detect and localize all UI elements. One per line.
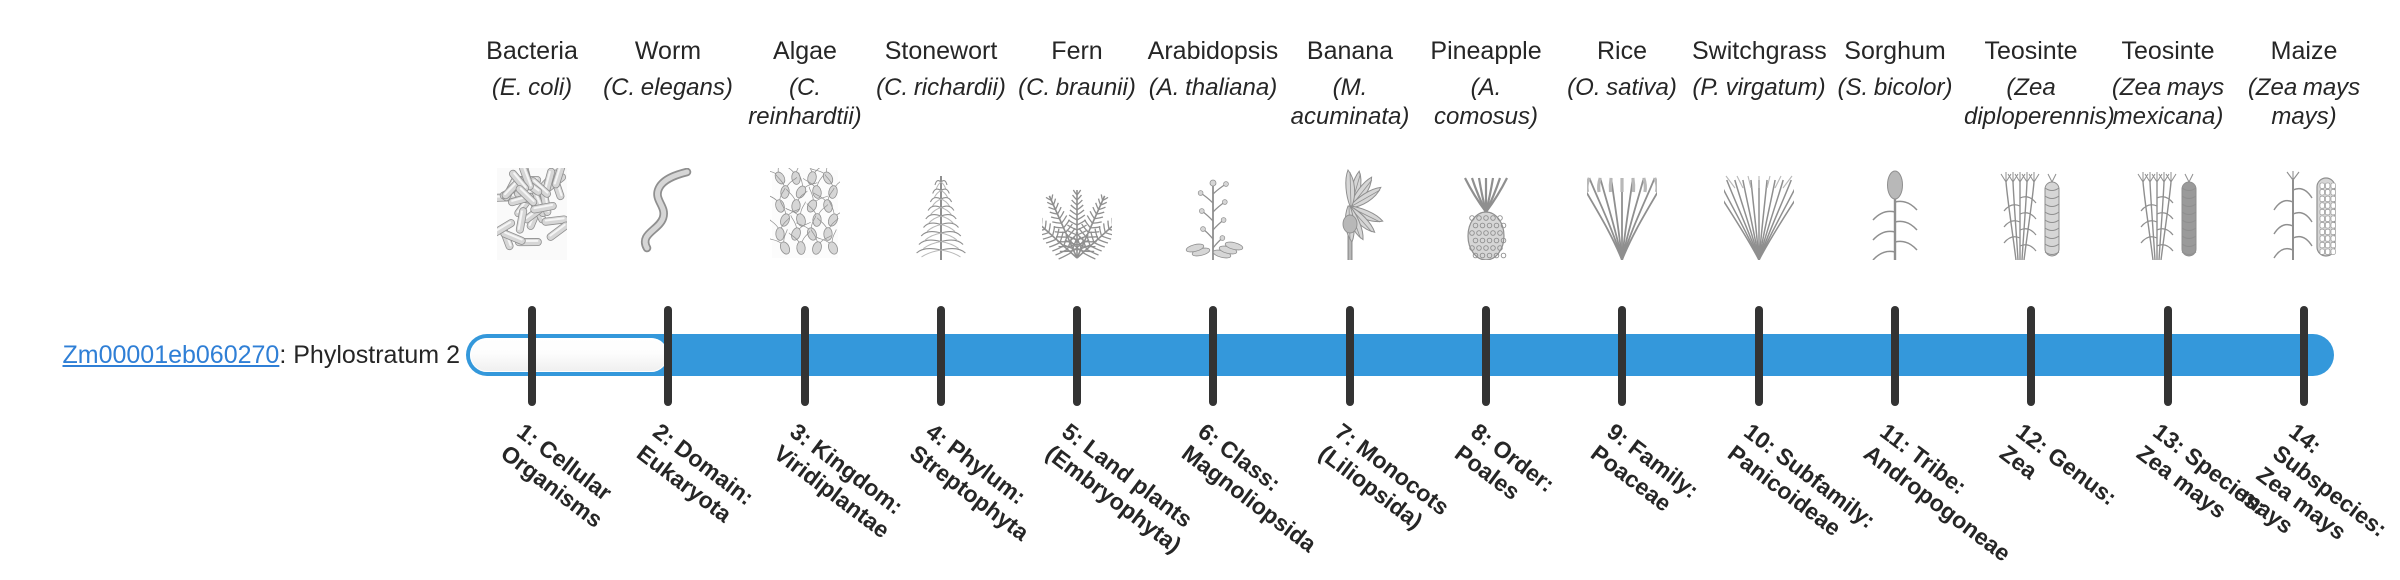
species-common-name: Pineapple bbox=[1419, 34, 1553, 68]
species-column: Switchgrass(P. virgatum) bbox=[1692, 34, 1826, 102]
species-column: Arabidopsis(A. thaliana) bbox=[1146, 34, 1280, 102]
phylostratum-tick[interactable] bbox=[528, 306, 536, 406]
switchgrass-icon bbox=[1684, 168, 1834, 260]
gene-phylostratum-label: Zm00001eb060270: Phylostratum 2 bbox=[0, 340, 460, 370]
species-common-name: Stonewort bbox=[874, 34, 1008, 68]
pineapple-icon bbox=[1411, 168, 1561, 260]
species-column: Algae(C. reinhardtii) bbox=[738, 34, 872, 131]
species-scientific-name: (P. virgatum) bbox=[1692, 73, 1826, 102]
species-column: Stonewort(C. richardii) bbox=[874, 34, 1008, 102]
phylostratum-tick[interactable] bbox=[1482, 306, 1490, 406]
arabidopsis-icon bbox=[1138, 168, 1288, 260]
phylostratum-tick[interactable] bbox=[2164, 306, 2172, 406]
species-scientific-name: (A. comosus) bbox=[1419, 73, 1553, 131]
species-column: Rice(O. sativa) bbox=[1555, 34, 1689, 102]
gene-label-separator: : bbox=[279, 341, 293, 369]
species-common-name: Rice bbox=[1555, 34, 1689, 68]
species-common-name: Switchgrass bbox=[1692, 34, 1826, 68]
sorghum-icon bbox=[1820, 168, 1970, 260]
gene-phylostratum-value: Phylostratum 2 bbox=[293, 341, 460, 369]
species-scientific-name: (C. reinhardtii) bbox=[738, 73, 872, 131]
species-common-name: Arabidopsis bbox=[1146, 34, 1280, 68]
species-column: Bacteria(E. coli) bbox=[465, 34, 599, 102]
species-column: Teosinte(Zea diploperennis) bbox=[1964, 34, 2098, 131]
species-scientific-name: (C. elegans) bbox=[601, 73, 735, 102]
species-common-name: Fern bbox=[1010, 34, 1144, 68]
phylostratum-tick[interactable] bbox=[1209, 306, 1217, 406]
rice-plant-icon bbox=[1547, 168, 1697, 260]
species-common-name: Bacteria bbox=[465, 34, 599, 68]
species-scientific-name: (C. richardii) bbox=[874, 73, 1008, 102]
species-scientific-name: (A. thaliana) bbox=[1146, 73, 1280, 102]
species-common-name: Teosinte bbox=[1964, 34, 2098, 68]
species-column: Worm(C. elegans) bbox=[601, 34, 735, 102]
species-column: Fern(C. braunii) bbox=[1010, 34, 1144, 102]
algae-cells-icon bbox=[730, 168, 880, 260]
gene-id-link[interactable]: Zm00001eb060270 bbox=[62, 341, 279, 369]
species-scientific-name: (Zea mays mexicana) bbox=[2101, 73, 2235, 131]
species-common-name: Maize bbox=[2237, 34, 2371, 68]
species-scientific-name: (E. coli) bbox=[465, 73, 599, 102]
species-common-name: Teosinte bbox=[2101, 34, 2235, 68]
species-scientific-name: (C. braunii) bbox=[1010, 73, 1144, 102]
species-scientific-name: (Zea mays mays) bbox=[2237, 73, 2371, 131]
teosinte-diploperennis-icon bbox=[1956, 168, 2106, 260]
species-column: Banana(M. acuminata) bbox=[1283, 34, 1417, 131]
species-scientific-name: (Zea diploperennis) bbox=[1964, 73, 2098, 131]
phylostratigraphy-timeline: Zm00001eb060270: Phylostratum 2 Bacteria… bbox=[0, 0, 2400, 580]
phylostratum-tick[interactable] bbox=[1755, 306, 1763, 406]
species-scientific-name: (S. bicolor) bbox=[1828, 73, 1962, 102]
fern-frond-icon bbox=[1002, 168, 1152, 260]
phylostratum-tick[interactable] bbox=[664, 306, 672, 406]
species-column: Sorghum(S. bicolor) bbox=[1828, 34, 1962, 102]
phylostratum-tick[interactable] bbox=[2027, 306, 2035, 406]
phylostratum-bar-unfilled bbox=[470, 338, 668, 372]
phylostratum-tick[interactable] bbox=[1891, 306, 1899, 406]
bacteria-rods-icon bbox=[457, 168, 607, 260]
maize-icon bbox=[2229, 168, 2379, 260]
phylostratum-tick[interactable] bbox=[801, 306, 809, 406]
species-column: Teosinte(Zea mays mexicana) bbox=[2101, 34, 2235, 131]
species-scientific-name: (O. sativa) bbox=[1555, 73, 1689, 102]
nematode-worm-icon bbox=[593, 168, 743, 260]
phylostratum-tick[interactable] bbox=[1346, 306, 1354, 406]
species-common-name: Algae bbox=[738, 34, 872, 68]
phylostratum-tick[interactable] bbox=[2300, 306, 2308, 406]
species-common-name: Sorghum bbox=[1828, 34, 1962, 68]
species-scientific-name: (M. acuminata) bbox=[1283, 73, 1417, 131]
species-column: Pineapple(A. comosus) bbox=[1419, 34, 1553, 131]
phylostratum-tick[interactable] bbox=[1618, 306, 1626, 406]
phylostratum-label-text: 1: Cellular Organisms bbox=[496, 418, 656, 557]
species-common-name: Banana bbox=[1283, 34, 1417, 68]
species-column: Maize(Zea mays mays) bbox=[2237, 34, 2371, 131]
teosinte-mexicana-icon bbox=[2093, 168, 2243, 260]
banana-plant-icon bbox=[1275, 168, 1425, 260]
phylostratum-tick[interactable] bbox=[1073, 306, 1081, 406]
phylostratum-bar-track[interactable] bbox=[466, 334, 2334, 376]
species-common-name: Worm bbox=[601, 34, 735, 68]
stonewort-icon bbox=[866, 168, 1016, 260]
phylostratum-tick[interactable] bbox=[937, 306, 945, 406]
